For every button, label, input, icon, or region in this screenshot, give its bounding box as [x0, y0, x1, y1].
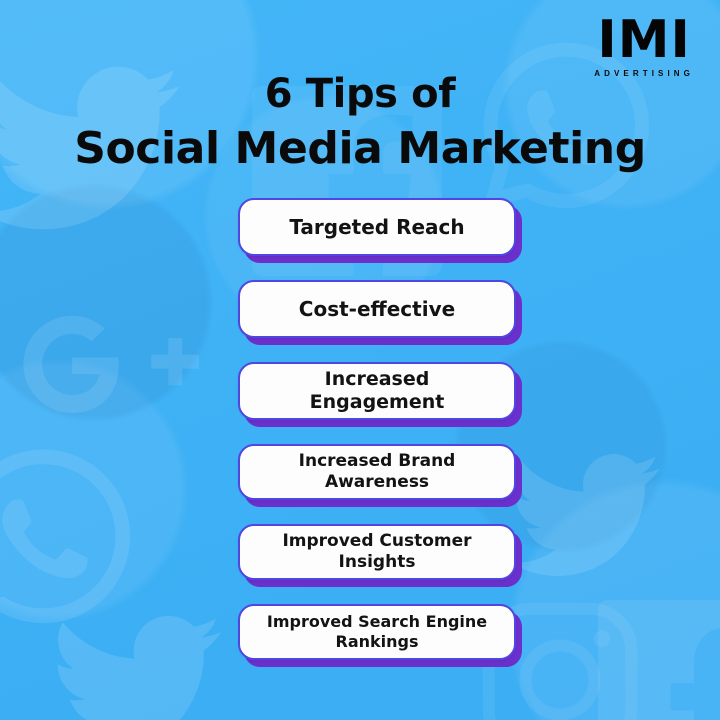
- tip-label: Targeted Reach: [289, 215, 464, 239]
- list-item[interactable]: Improved Customer Insights: [238, 524, 516, 580]
- whatsapp-icon: [0, 432, 148, 642]
- list-item[interactable]: Increased Brand Awareness: [238, 444, 516, 500]
- tip-label: Improved Customer Insights: [254, 531, 500, 572]
- tips-list: Targeted Reach Cost-effective Increased …: [238, 198, 516, 684]
- list-item[interactable]: Increased Engagement: [238, 362, 516, 420]
- tip-card[interactable]: Improved Search Engine Rankings: [238, 604, 516, 660]
- page-title: 6 Tips of Social Media Marketing: [0, 72, 720, 174]
- tip-card[interactable]: Increased Brand Awareness: [238, 444, 516, 500]
- brand-logo: IMI ADVERTISING: [594, 14, 694, 78]
- tip-label: Increased Engagement: [254, 368, 500, 414]
- tip-card[interactable]: Increased Engagement: [238, 362, 516, 420]
- poster-canvas: IMI ADVERTISING 6 Tips of Social Media M…: [0, 0, 720, 720]
- brand-name: IMI: [594, 14, 694, 66]
- tip-card[interactable]: Improved Customer Insights: [238, 524, 516, 580]
- facebook-icon: [598, 600, 720, 720]
- list-item[interactable]: Cost-effective: [238, 280, 516, 338]
- tip-label: Increased Brand Awareness: [254, 451, 500, 492]
- tip-card[interactable]: Targeted Reach: [238, 198, 516, 256]
- twitter-icon: [500, 440, 670, 590]
- list-item[interactable]: Improved Search Engine Rankings: [238, 604, 516, 660]
- title-line-1: 6 Tips of: [0, 72, 720, 118]
- tip-label: Improved Search Engine Rankings: [254, 612, 500, 651]
- tip-card[interactable]: Cost-effective: [238, 280, 516, 338]
- title-line-2: Social Media Marketing: [0, 124, 720, 174]
- googleplus-icon: [12, 270, 202, 460]
- list-item[interactable]: Targeted Reach: [238, 198, 516, 256]
- twitter-icon: [36, 600, 236, 720]
- tip-label: Cost-effective: [299, 297, 455, 321]
